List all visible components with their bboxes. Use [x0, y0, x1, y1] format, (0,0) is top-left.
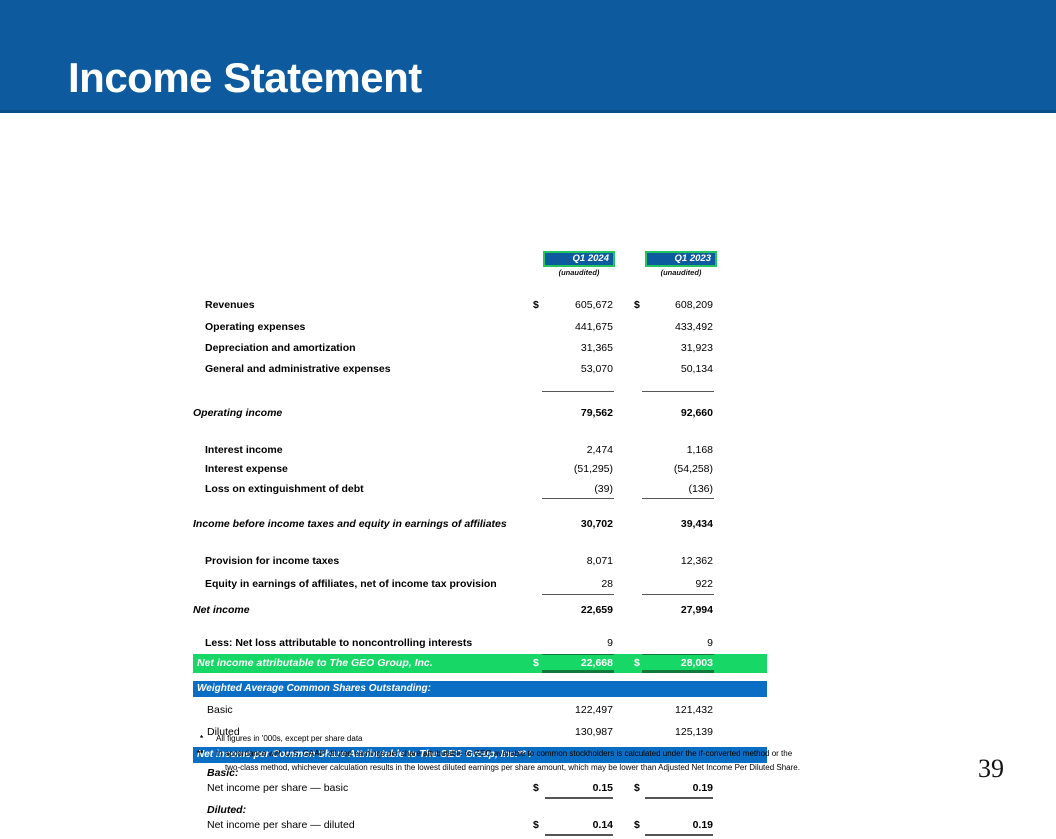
row-label: Income before income taxes and equity in… — [193, 517, 507, 531]
eps-underline — [645, 797, 713, 799]
row-value-q1-2023: 92,660 — [633, 406, 713, 420]
row-label: Provision for income taxes — [205, 554, 339, 568]
subtotal-rule — [542, 498, 614, 499]
table-row: Diluted 130,987 125,139 — [0, 725, 1056, 746]
row-value-q1-2024: 53,070 — [533, 362, 613, 376]
row-value-q1-2024: 122,497 — [533, 703, 613, 717]
row-value-q1-2023: 9 — [633, 636, 713, 650]
row-value-q1-2023: (136) — [633, 482, 713, 496]
highlight-rule-bottom — [642, 670, 714, 673]
row-value-q1-2024: 130,987 — [533, 725, 613, 739]
table-row: Depreciation and amortization 31,365 31,… — [0, 341, 1056, 362]
row-value-q1-2024: 28 — [533, 577, 613, 591]
row-value-q1-2023: 608,209 — [633, 298, 713, 312]
row-label: Operating expenses — [205, 320, 305, 334]
table-row: Net income per share — diluted $ 0.14 $ … — [0, 818, 1056, 839]
row-value-q1-2024: 2,474 — [533, 443, 613, 457]
column-header-label: Q1 2024 — [545, 253, 613, 265]
footnote-mark: * — [200, 733, 203, 745]
row-label: Net income attributable to The GEO Group… — [197, 656, 433, 670]
subtotal-rule — [542, 391, 614, 392]
row-value-q1-2024: 441,675 — [533, 320, 613, 334]
row-value-q1-2024: 22,659 — [533, 603, 613, 617]
row-label: Basic — [207, 703, 233, 717]
table-row-subtotal: Operating income 79,562 92,660 — [0, 406, 1056, 427]
subtotal-rule — [642, 594, 714, 595]
table-row: Loss on extinguishment of debt (39) (136… — [0, 482, 1056, 503]
row-label: Interest expense — [205, 462, 288, 476]
row-value-q1-2024: 79,562 — [533, 406, 613, 420]
subtotal-rule — [542, 594, 614, 595]
eps-underline — [545, 834, 613, 836]
income-statement-sheet: Q1 2024 (unaudited) Q1 2023 (unaudited) … — [0, 113, 1056, 816]
row-value-q1-2023: 1,168 — [633, 443, 713, 457]
row-value-q1-2024: 31,365 — [533, 341, 613, 355]
row-value-q1-2023: 0.19 — [633, 781, 713, 795]
table-row: Provision for income taxes 8,071 12,362 — [0, 554, 1056, 575]
row-label: Operating income — [193, 406, 282, 420]
row-value-q1-2024: 0.15 — [533, 781, 613, 795]
row-value-q1-2024: (39) — [533, 482, 613, 496]
row-value-q1-2023: 0.19 — [633, 818, 713, 832]
row-label: Net income per share — diluted — [207, 818, 355, 832]
row-label: Depreciation and amortization — [205, 341, 356, 355]
table-row: Equity in earnings of affiliates, net of… — [0, 577, 1056, 598]
row-value-q1-2023: 39,434 — [633, 517, 713, 531]
section-header-label: Weighted Average Common Shares Outstandi… — [197, 682, 431, 696]
section-header-weighted-average-shares: Weighted Average Common Shares Outstandi… — [193, 681, 767, 697]
footnote-mark: ** — [197, 748, 203, 760]
row-value-q1-2024: 30,702 — [533, 517, 613, 531]
highlight-rule-top — [642, 654, 714, 655]
column-header-label: Q1 2023 — [647, 253, 715, 265]
row-value-q1-2023: (54,258) — [633, 462, 713, 476]
row-label: General and administrative expenses — [205, 362, 391, 376]
subtotal-rule — [642, 498, 714, 499]
row-label: Less: Net loss attributable to noncontro… — [205, 636, 472, 650]
row-value-q1-2023: 28,003 — [633, 656, 713, 670]
column-header-q1-2024: Q1 2024 — [543, 251, 615, 267]
row-value-q1-2023: 27,994 — [633, 603, 713, 617]
row-label: Equity in earnings of affiliates, net of… — [205, 577, 497, 591]
footnote-text: All figures in '000s, except per share d… — [216, 733, 363, 745]
row-label: Net income per share — basic — [207, 781, 348, 795]
row-label: Loss on extinguishment of debt — [205, 482, 364, 496]
column-sublabel-q1-2024: (unaudited) — [543, 268, 615, 277]
page-title: Income Statement — [68, 57, 422, 99]
table-row-subtotal: Net income 22,659 27,994 — [0, 603, 1056, 624]
table-row: Revenues $ 605,672 $ 608,209 — [0, 298, 1056, 319]
table-row: Interest income 2,474 1,168 — [0, 443, 1056, 464]
page-number: 39 — [978, 754, 1004, 784]
table-row: General and administrative expenses 53,0… — [0, 362, 1056, 383]
subtotal-rule — [642, 391, 714, 392]
row-label: Interest income — [205, 443, 283, 457]
row-label: Revenues — [205, 298, 255, 312]
title-band: Income Statement — [0, 0, 1056, 113]
row-value-q1-2023: 121,432 — [633, 703, 713, 717]
highlight-rule-bottom — [542, 670, 614, 673]
row-value-q1-2023: 433,492 — [633, 320, 713, 334]
row-value-q1-2023: 12,362 — [633, 554, 713, 568]
column-sublabel-q1-2023: (unaudited) — [645, 268, 717, 277]
row-value-q1-2024: 22,668 — [533, 656, 613, 670]
eps-underline — [545, 797, 613, 799]
highlight-row-net-income-attributable: Net income attributable to The GEO Group… — [193, 654, 767, 673]
row-label: Net income — [193, 603, 250, 617]
row-value-q1-2024: (51,295) — [533, 462, 613, 476]
row-value-q1-2023: 31,923 — [633, 341, 713, 355]
table-row: Operating expenses 441,675 433,492 — [0, 320, 1056, 341]
table-row: Net income per share — basic $ 0.15 $ 0.… — [0, 781, 1056, 802]
row-value-q1-2024: 8,071 — [533, 554, 613, 568]
footnote-text-line1: In accordance with U.S. GAAP, diluted ea… — [216, 748, 792, 760]
row-value-q1-2024: 0.14 — [533, 818, 613, 832]
highlight-rule-top — [542, 654, 614, 655]
row-value-q1-2023: 125,139 — [633, 725, 713, 739]
table-row-subtotal: Income before income taxes and equity in… — [0, 517, 1056, 538]
row-value-q1-2024: 605,672 — [533, 298, 613, 312]
row-value-q1-2023: 922 — [633, 577, 713, 591]
table-row: Interest expense (51,295) (54,258) — [0, 462, 1056, 483]
column-header-q1-2023: Q1 2023 — [645, 251, 717, 267]
group-label: Diluted: — [207, 803, 246, 817]
table-row: Basic 122,497 121,432 — [0, 703, 1056, 724]
eps-underline — [645, 834, 713, 836]
row-value-q1-2023: 50,134 — [633, 362, 713, 376]
footnote-text-line2: two-class method, whichever calculation … — [225, 762, 800, 774]
row-value-q1-2024: 9 — [533, 636, 613, 650]
